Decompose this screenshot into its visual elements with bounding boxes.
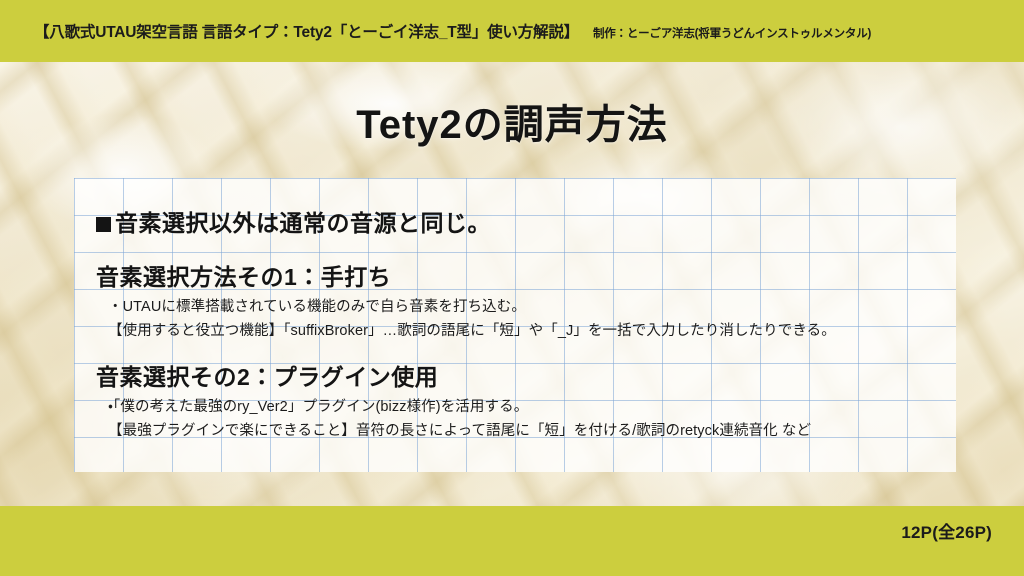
square-bullet-icon — [96, 217, 111, 232]
presentation-slide: 【八歌式UTAU架空言語 言語タイプ：Tety2「とーごイ洋志_T型」使い方解説… — [0, 0, 1024, 576]
section-手打ち: 音素選択方法その1：手打ち ・UTAUに標準搭載されている機能のみで自ら音素を打… — [96, 258, 836, 345]
page-title: Tety2の調声方法 — [0, 92, 1024, 150]
header-text-group: 【八歌式UTAU架空言語 言語タイプ：Tety2「とーごイ洋志_T型」使い方解説… — [0, 20, 871, 42]
header-title: 【八歌式UTAU架空言語 言語タイプ：Tety2「とーごイ洋志_T型」使い方解説… — [34, 20, 579, 42]
section-1-line-2: 【使用すると役立つ機能】「suffixBroker」…歌詞の語尾に「短」や「_J… — [108, 321, 836, 343]
page-number: 12P(全26P) — [901, 518, 992, 543]
footer-band: 12P(全26P) — [0, 506, 1024, 576]
header-credit: 制作：とーごア洋志(将軍うどんインストゥルメンタル) — [593, 25, 871, 41]
content-body: 音素選択以外は通常の音源と同じ。 音素選択方法その1：手打ち ・UTAUに標準搭… — [74, 178, 956, 472]
lead-statement: 音素選択以外は通常の音源と同じ。 — [96, 204, 491, 238]
section-2-line-1: ・「僕の考えた最強のry_Ver2」プラグイン(bizz様作)を活用する。 — [108, 397, 811, 419]
section-plugin: 音素選択その2：プラグイン使用 ・「僕の考えた最強のry_Ver2」プラグイン(… — [96, 358, 811, 445]
lead-statement-text: 音素選択以外は通常の音源と同じ。 — [115, 210, 491, 236]
section-1-line-1: ・UTAUに標準搭載されている機能のみで自ら音素を打ち込む。 — [108, 297, 836, 319]
section-2-line-2: 【最強プラグインで楽にできること】音符の長さによって語尾に「短」を付ける/歌詞の… — [108, 421, 811, 443]
section-heading-1: 音素選択方法その1：手打ち — [96, 258, 836, 292]
section-heading-2: 音素選択その2：プラグイン使用 — [96, 358, 811, 392]
content-panel: 音素選択以外は通常の音源と同じ。 音素選択方法その1：手打ち ・UTAUに標準搭… — [74, 178, 956, 472]
header-band: 【八歌式UTAU架空言語 言語タイプ：Tety2「とーごイ洋志_T型」使い方解説… — [0, 0, 1024, 62]
